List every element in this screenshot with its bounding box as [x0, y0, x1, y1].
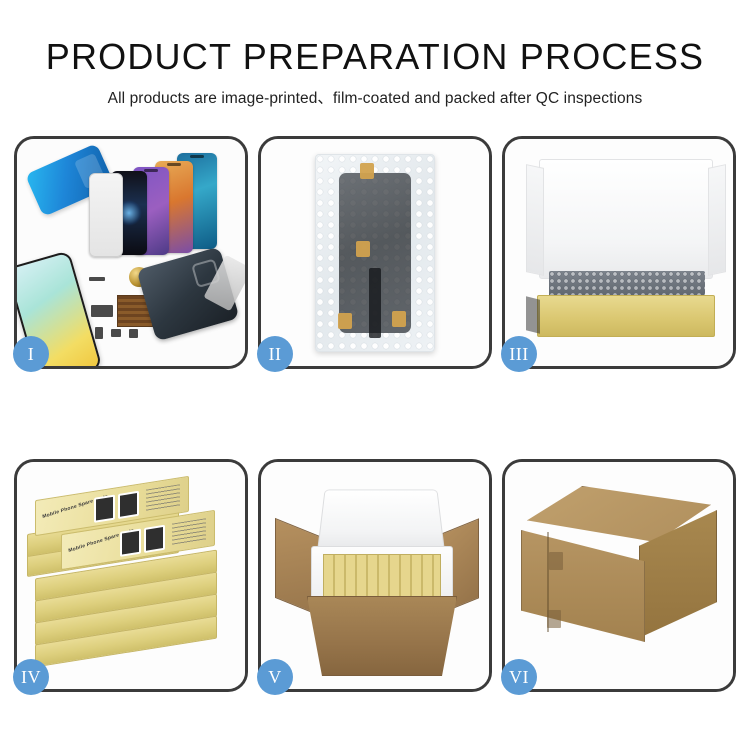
spec-text-icon	[172, 518, 206, 545]
foam-lid-icon	[539, 159, 713, 279]
screen-protector-icon	[89, 173, 123, 257]
notch-icon	[144, 169, 158, 172]
inner-box-icon	[523, 155, 715, 344]
part-icon	[111, 329, 121, 337]
tape-icon	[392, 311, 406, 327]
product-preparation-infographic: PRODUCT PREPARATION PROCESS All products…	[0, 0, 750, 750]
process-step-1: I	[14, 136, 248, 369]
product-photo-icon	[120, 529, 141, 557]
product-photo-icon	[118, 491, 139, 519]
carton-tape-icon	[547, 610, 561, 628]
process-step-5: V	[258, 459, 492, 692]
tape-icon	[360, 163, 374, 179]
tape-icon	[338, 313, 352, 329]
process-step-6: VI	[502, 459, 736, 692]
step-badge-4: IV	[13, 659, 49, 695]
carton-body-icon	[307, 596, 457, 676]
process-step-4: Mobile Phone Spare Parts Mobile Phone Sp…	[14, 459, 248, 692]
yellow-box-base-icon	[537, 295, 715, 337]
bubble-wrap-bag-icon	[315, 154, 435, 352]
spec-text-icon	[146, 484, 180, 511]
product-photo-icon	[144, 525, 165, 553]
carton-front-face	[521, 530, 645, 642]
step-2-image	[261, 139, 489, 366]
foam-lid-icon	[317, 489, 445, 552]
step-6-image	[505, 462, 733, 689]
step-1-image	[17, 139, 245, 366]
product-photo-icon	[94, 495, 115, 523]
step-5-image	[261, 462, 489, 689]
step-badge-3: III	[501, 336, 537, 372]
flex-cable-icon	[369, 268, 381, 338]
process-step-3: III	[502, 136, 736, 369]
step-4-image: Mobile Phone Spare Parts Mobile Phone Sp…	[17, 462, 245, 689]
page-title: PRODUCT PREPARATION PROCESS	[0, 38, 750, 76]
process-step-grid: I II	[14, 136, 736, 692]
part-icon	[89, 277, 105, 281]
step-badge-2: II	[257, 336, 293, 372]
step-badge-1: I	[13, 336, 49, 372]
part-icon	[95, 327, 103, 339]
box-stack-icon: Mobile Phone Spare Parts Mobile Phone Sp…	[27, 480, 237, 680]
carton-tape-icon	[549, 552, 563, 570]
tape-icon	[356, 241, 370, 257]
part-icon	[129, 329, 138, 338]
part-icon	[91, 305, 113, 317]
step-badge-5: V	[257, 659, 293, 695]
step-badge-6: VI	[501, 659, 537, 695]
page-subtitle: All products are image-printed、film-coat…	[0, 86, 750, 108]
header: PRODUCT PREPARATION PROCESS All products…	[0, 0, 750, 108]
sealed-carton-icon	[521, 486, 717, 668]
open-carton-icon	[275, 476, 475, 678]
process-step-2: II	[258, 136, 492, 369]
notch-icon	[167, 163, 181, 166]
step-3-image	[505, 139, 733, 366]
notch-icon	[190, 155, 204, 158]
